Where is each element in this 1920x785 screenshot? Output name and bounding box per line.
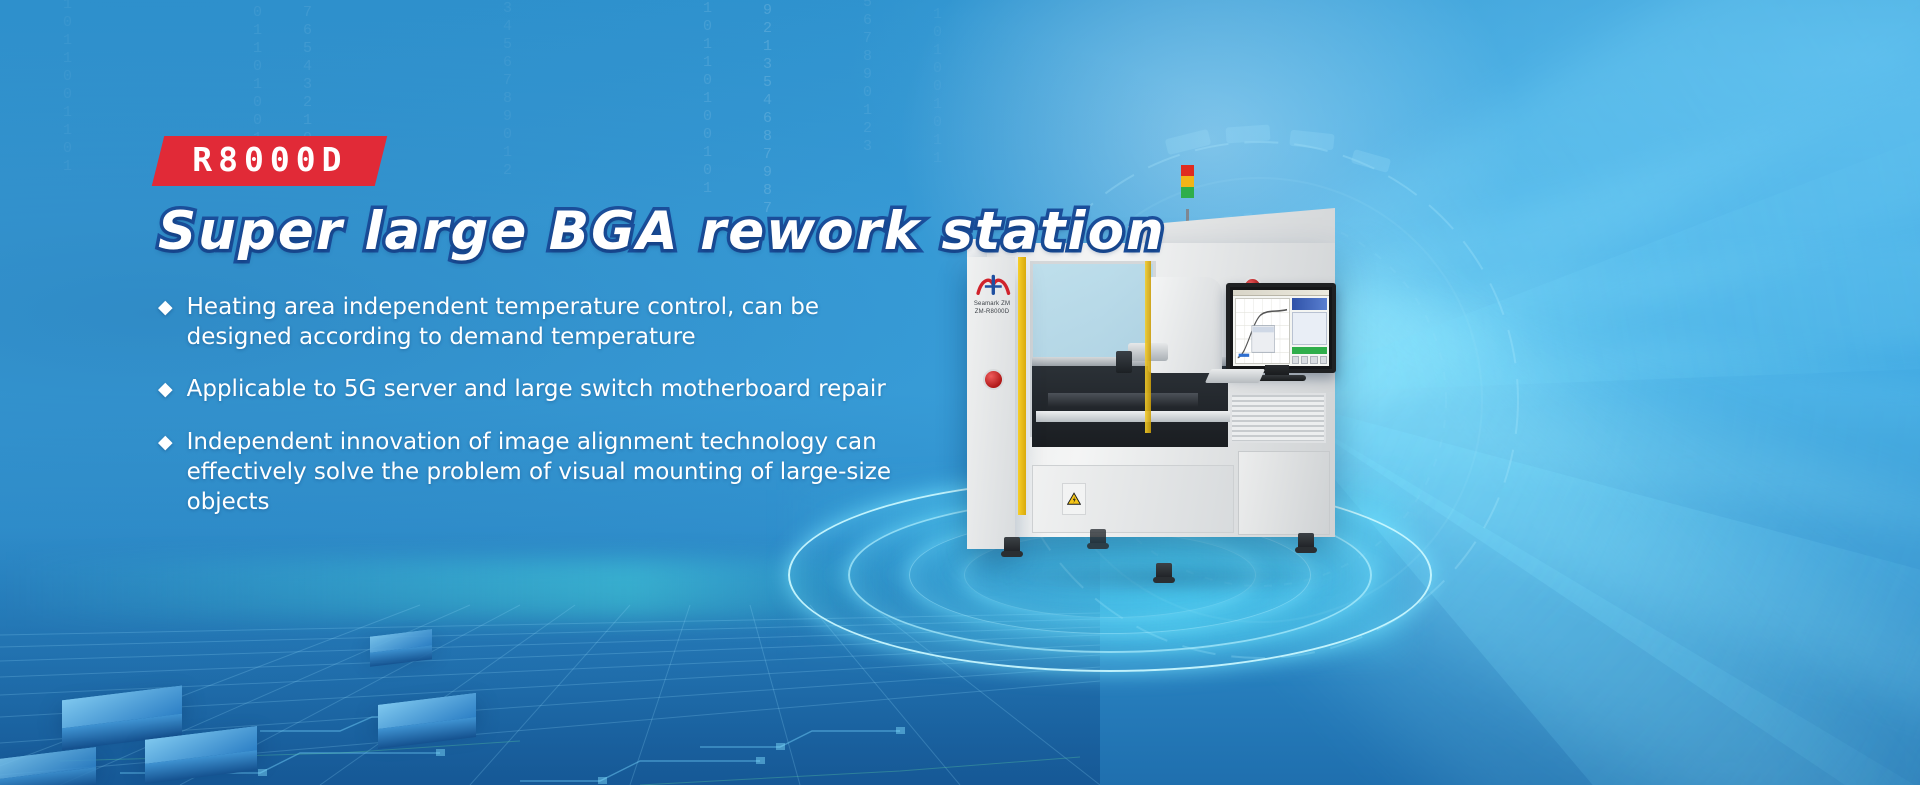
feature-text: Applicable to 5G server and large switch…	[187, 374, 886, 404]
machine-foot	[1298, 533, 1314, 549]
diamond-bullet-icon: ◆	[158, 293, 173, 323]
model-badge: R8000D	[152, 136, 388, 186]
page-title: Super large BGA rework station	[158, 202, 978, 262]
model-badge-wrapper: R8000D	[158, 136, 978, 188]
foot-pad	[1087, 543, 1109, 549]
machine-foot	[1090, 529, 1106, 545]
foot-pad	[1295, 547, 1317, 553]
diamond-bullet-icon: ◆	[158, 428, 173, 458]
foot-pad	[1153, 577, 1175, 583]
foot-pad	[1001, 551, 1023, 557]
banner-content: R8000D Super large BGA rework station ◆ …	[158, 136, 978, 539]
model-badge-label: R8000D	[192, 142, 347, 178]
machine-foot	[1004, 537, 1020, 553]
machine-foot	[1156, 563, 1172, 579]
feature-list: ◆ Heating area independent temperature c…	[158, 292, 978, 517]
feature-item: ◆ Independent innovation of image alignm…	[158, 427, 978, 517]
feature-text: Heating area independent temperature con…	[187, 292, 927, 352]
product-banner: 4921354687987 10110100101 87654321098 01…	[0, 0, 1920, 785]
diamond-bullet-icon: ◆	[158, 375, 173, 405]
feature-item: ◆ Applicable to 5G server and large swit…	[158, 374, 978, 405]
feature-text: Independent innovation of image alignmen…	[187, 427, 927, 517]
feature-item: ◆ Heating area independent temperature c…	[158, 292, 978, 352]
